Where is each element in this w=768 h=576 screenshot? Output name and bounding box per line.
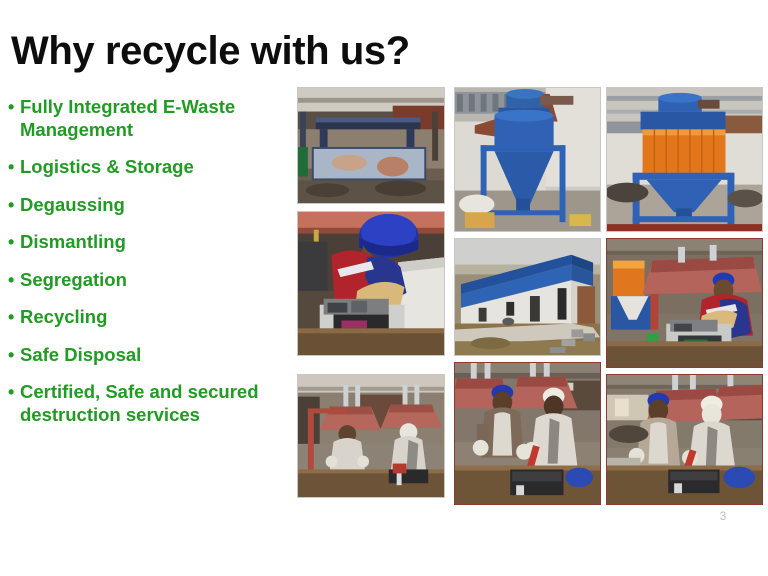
list-item-label: Segregation xyxy=(19,269,300,292)
blue-cyclone-separator-photo xyxy=(454,87,601,232)
recycling-facility-building-photo xyxy=(454,238,601,356)
page-title: Why recycle with us? xyxy=(11,30,410,72)
list-item-label: Certified, Safe and secured destruction … xyxy=(19,381,300,427)
benefits-bullet-list: • Fully Integrated E-Waste Management • … xyxy=(8,96,300,441)
bullet-marker-icon: • xyxy=(8,194,19,216)
list-item: • Fully Integrated E-Waste Management xyxy=(8,96,300,142)
list-item: • Logistics & Storage xyxy=(8,156,300,179)
worker-dismantling-electronics-photo xyxy=(297,211,445,356)
bullet-marker-icon: • xyxy=(8,306,19,328)
photo-collage xyxy=(297,87,763,507)
list-item: • Recycling xyxy=(8,306,300,329)
photo-column-2 xyxy=(454,87,601,507)
slide-number: 3 xyxy=(714,509,732,523)
list-item-label: Recycling xyxy=(19,306,300,329)
list-item: • Segregation xyxy=(8,269,300,292)
two-workers-under-red-extraction-hoods-photo xyxy=(297,374,445,498)
worker-with-hammer-at-bench-photo xyxy=(606,374,763,505)
slide-canvas: Why recycle with us? • Fully Integrated … xyxy=(0,0,768,576)
photo-column-3 xyxy=(606,87,763,507)
bullet-marker-icon: • xyxy=(8,344,19,366)
bullet-marker-icon: • xyxy=(8,96,19,118)
list-item: • Dismantling xyxy=(8,231,300,254)
workers-dismantling-at-bench-photo xyxy=(454,362,601,505)
list-item-label: Safe Disposal xyxy=(19,344,300,367)
list-item: • Safe Disposal xyxy=(8,344,300,367)
bullet-marker-icon: • xyxy=(8,156,19,178)
bullet-marker-icon: • xyxy=(8,381,19,403)
list-item-label: Logistics & Storage xyxy=(19,156,300,179)
list-item-label: Dismantling xyxy=(19,231,300,254)
list-item: • Degaussing xyxy=(8,194,300,217)
bullet-marker-icon: • xyxy=(8,269,19,291)
worker-at-workbench-red-hood-photo xyxy=(606,238,763,368)
list-item-label: Degaussing xyxy=(19,194,300,217)
blue-orange-dust-collector-photo xyxy=(606,87,763,232)
list-item-label: Fully Integrated E-Waste Management xyxy=(19,96,300,142)
workshop-conveyor-machine-photo xyxy=(297,87,445,204)
bullet-marker-icon: • xyxy=(8,231,19,253)
photo-column-1 xyxy=(297,87,445,507)
list-item: • Certified, Safe and secured destructio… xyxy=(8,381,300,427)
